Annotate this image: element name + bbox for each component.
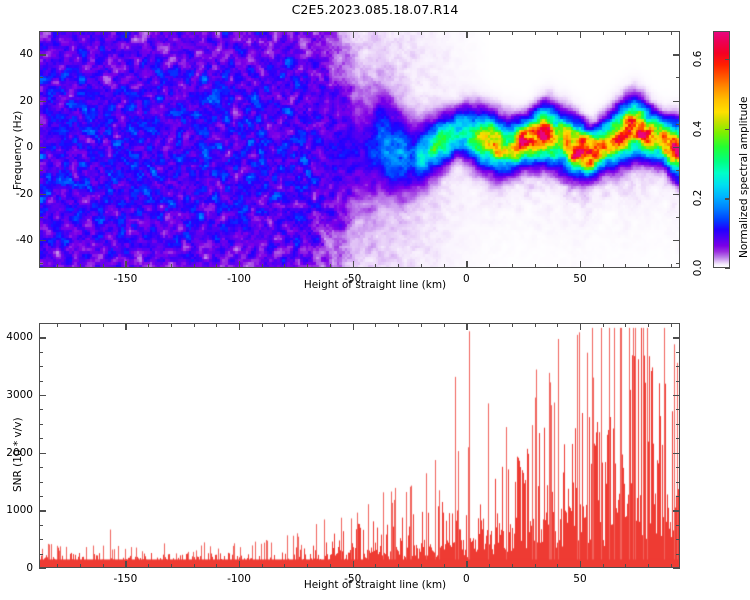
- y-minor-tick: [39, 170, 43, 171]
- y-major-tick: [39, 568, 46, 569]
- y-major-tick: [673, 147, 680, 148]
- x-minor-tick: [171, 31, 172, 35]
- x-minor-tick: [307, 264, 308, 268]
- x-minor-tick: [171, 264, 172, 268]
- x-minor-tick: [307, 323, 308, 327]
- x-major-tick: [125, 323, 126, 330]
- x-minor-tick: [375, 323, 376, 327]
- x-minor-tick: [489, 31, 490, 35]
- x-minor-tick: [284, 323, 285, 327]
- snr-y-axis-label: SNR (10 * v/v): [12, 417, 24, 492]
- x-major-tick: [125, 561, 126, 568]
- colorbar-tick-label: 0.4: [692, 117, 704, 141]
- y-major-tick: [39, 337, 46, 338]
- x-minor-tick: [80, 323, 81, 327]
- x-minor-tick: [671, 31, 672, 35]
- snr-plot-area: [39, 323, 680, 568]
- y-minor-tick: [39, 263, 43, 264]
- y-minor-tick: [676, 31, 680, 32]
- x-major-tick: [580, 261, 581, 268]
- y-minor-tick: [39, 409, 43, 410]
- x-minor-tick: [557, 31, 558, 35]
- colorbar-tick-label: 0.0: [692, 256, 704, 280]
- x-minor-tick: [262, 31, 263, 35]
- x-minor-tick: [171, 323, 172, 327]
- x-major-tick: [466, 31, 467, 38]
- x-minor-tick: [512, 31, 513, 35]
- x-minor-tick: [557, 564, 558, 568]
- x-minor-tick: [80, 564, 81, 568]
- colorbar-tick: [725, 129, 730, 130]
- y-tick-label: -40: [0, 234, 33, 246]
- x-minor-tick: [398, 323, 399, 327]
- x-minor-tick: [330, 264, 331, 268]
- x-major-tick: [353, 323, 354, 330]
- x-major-tick: [353, 561, 354, 568]
- y-minor-tick: [39, 467, 43, 468]
- x-minor-tick: [648, 564, 649, 568]
- y-major-tick: [673, 54, 680, 55]
- x-minor-tick: [444, 564, 445, 568]
- spectrogram-x-axis-label: Height of straight line (km): [0, 279, 750, 291]
- x-minor-tick: [194, 323, 195, 327]
- y-major-tick: [39, 453, 46, 454]
- y-major-tick: [39, 194, 46, 195]
- colorbar-tick: [725, 268, 730, 269]
- x-minor-tick: [57, 31, 58, 35]
- y-minor-tick: [676, 496, 680, 497]
- x-minor-tick: [375, 264, 376, 268]
- x-minor-tick: [284, 564, 285, 568]
- x-minor-tick: [148, 564, 149, 568]
- x-minor-tick: [330, 31, 331, 35]
- colorbar-tick-label: 0.6: [692, 47, 704, 71]
- y-minor-tick: [39, 323, 43, 324]
- y-minor-tick: [676, 352, 680, 353]
- x-minor-tick: [421, 31, 422, 35]
- x-minor-tick: [535, 323, 536, 327]
- y-minor-tick: [39, 381, 43, 382]
- x-minor-tick: [330, 323, 331, 327]
- page-title: C2E5.2023.085.18.07.R14: [0, 2, 750, 17]
- x-minor-tick: [398, 31, 399, 35]
- y-minor-tick: [39, 424, 43, 425]
- x-minor-tick: [375, 564, 376, 568]
- x-minor-tick: [444, 323, 445, 327]
- x-minor-tick: [103, 31, 104, 35]
- y-minor-tick: [676, 124, 680, 125]
- x-minor-tick: [603, 564, 604, 568]
- y-major-tick: [39, 101, 46, 102]
- x-minor-tick: [194, 564, 195, 568]
- x-minor-tick: [557, 264, 558, 268]
- y-tick-label: 4000: [0, 331, 33, 343]
- y-minor-tick: [676, 409, 680, 410]
- x-minor-tick: [216, 264, 217, 268]
- x-major-tick: [125, 261, 126, 268]
- y-minor-tick: [676, 217, 680, 218]
- y-minor-tick: [676, 467, 680, 468]
- x-minor-tick: [57, 323, 58, 327]
- spectrogram-image: [40, 32, 679, 267]
- x-major-tick: [353, 261, 354, 268]
- x-minor-tick: [603, 31, 604, 35]
- x-minor-tick: [80, 264, 81, 268]
- x-minor-tick: [148, 31, 149, 35]
- x-minor-tick: [421, 323, 422, 327]
- y-minor-tick: [39, 77, 43, 78]
- x-minor-tick: [648, 323, 649, 327]
- snr-x-axis-label: Height of straight line (km): [0, 579, 750, 591]
- y-minor-tick: [676, 525, 680, 526]
- x-minor-tick: [648, 264, 649, 268]
- x-minor-tick: [625, 323, 626, 327]
- x-major-tick: [239, 261, 240, 268]
- x-minor-tick: [535, 564, 536, 568]
- x-major-tick: [239, 31, 240, 38]
- y-minor-tick: [39, 496, 43, 497]
- y-major-tick: [673, 101, 680, 102]
- x-minor-tick: [262, 323, 263, 327]
- x-minor-tick: [535, 264, 536, 268]
- figure-canvas: C2E5.2023.085.18.07.R14 -150-100-50050-4…: [0, 0, 750, 600]
- x-major-tick: [353, 31, 354, 38]
- x-major-tick: [580, 561, 581, 568]
- y-tick-label: 3000: [0, 389, 33, 401]
- y-minor-tick: [676, 323, 680, 324]
- x-minor-tick: [421, 564, 422, 568]
- x-major-tick: [466, 261, 467, 268]
- x-minor-tick: [57, 264, 58, 268]
- y-minor-tick: [39, 352, 43, 353]
- y-major-tick: [673, 510, 680, 511]
- x-minor-tick: [671, 323, 672, 327]
- y-major-tick: [673, 453, 680, 454]
- x-minor-tick: [421, 264, 422, 268]
- x-minor-tick: [625, 264, 626, 268]
- y-minor-tick: [676, 438, 680, 439]
- x-major-tick: [125, 31, 126, 38]
- x-minor-tick: [148, 264, 149, 268]
- x-minor-tick: [603, 264, 604, 268]
- x-major-tick: [580, 323, 581, 330]
- x-minor-tick: [57, 564, 58, 568]
- y-minor-tick: [39, 539, 43, 540]
- y-minor-tick: [39, 482, 43, 483]
- x-minor-tick: [671, 264, 672, 268]
- y-minor-tick: [39, 124, 43, 125]
- x-minor-tick: [284, 31, 285, 35]
- colorbar-tick: [725, 59, 730, 60]
- x-minor-tick: [535, 31, 536, 35]
- y-tick-label: 1000: [0, 504, 33, 516]
- x-minor-tick: [398, 264, 399, 268]
- x-minor-tick: [307, 31, 308, 35]
- x-minor-tick: [648, 31, 649, 35]
- y-major-tick: [39, 510, 46, 511]
- x-minor-tick: [444, 31, 445, 35]
- x-minor-tick: [216, 564, 217, 568]
- y-minor-tick: [676, 482, 680, 483]
- y-minor-tick: [676, 263, 680, 264]
- x-minor-tick: [103, 264, 104, 268]
- y-minor-tick: [676, 554, 680, 555]
- x-minor-tick: [512, 323, 513, 327]
- x-minor-tick: [625, 31, 626, 35]
- x-minor-tick: [284, 264, 285, 268]
- colorbar-tick: [725, 198, 730, 199]
- x-major-tick: [466, 561, 467, 568]
- y-minor-tick: [39, 366, 43, 367]
- x-major-tick: [580, 31, 581, 38]
- y-minor-tick: [39, 217, 43, 218]
- x-minor-tick: [375, 31, 376, 35]
- spectrogram-plot-area: [39, 31, 680, 268]
- y-minor-tick: [39, 438, 43, 439]
- x-minor-tick: [625, 564, 626, 568]
- y-minor-tick: [676, 170, 680, 171]
- x-minor-tick: [512, 564, 513, 568]
- x-minor-tick: [398, 564, 399, 568]
- colorbar-label: Normalized spectral amplitude: [738, 97, 750, 258]
- x-minor-tick: [330, 564, 331, 568]
- x-minor-tick: [671, 564, 672, 568]
- y-major-tick: [673, 194, 680, 195]
- x-minor-tick: [489, 323, 490, 327]
- y-minor-tick: [39, 31, 43, 32]
- x-minor-tick: [216, 31, 217, 35]
- y-major-tick: [673, 337, 680, 338]
- x-minor-tick: [216, 323, 217, 327]
- y-minor-tick: [676, 77, 680, 78]
- x-minor-tick: [171, 564, 172, 568]
- y-major-tick: [673, 395, 680, 396]
- x-minor-tick: [103, 323, 104, 327]
- x-major-tick: [239, 561, 240, 568]
- x-minor-tick: [194, 264, 195, 268]
- y-major-tick: [673, 240, 680, 241]
- x-major-tick: [466, 323, 467, 330]
- x-minor-tick: [103, 564, 104, 568]
- y-tick-label: 40: [0, 48, 33, 60]
- x-minor-tick: [444, 264, 445, 268]
- snr-trace-image: [40, 324, 679, 567]
- x-minor-tick: [80, 31, 81, 35]
- colorbar-tick-label: 0.2: [692, 186, 704, 210]
- y-minor-tick: [39, 525, 43, 526]
- x-minor-tick: [489, 564, 490, 568]
- y-major-tick: [39, 54, 46, 55]
- x-minor-tick: [603, 323, 604, 327]
- y-minor-tick: [676, 424, 680, 425]
- y-major-tick: [39, 395, 46, 396]
- x-minor-tick: [557, 323, 558, 327]
- x-minor-tick: [489, 264, 490, 268]
- x-minor-tick: [307, 564, 308, 568]
- y-minor-tick: [676, 539, 680, 540]
- y-tick-label: 0: [0, 562, 33, 574]
- x-minor-tick: [194, 31, 195, 35]
- y-major-tick: [673, 568, 680, 569]
- y-major-tick: [39, 147, 46, 148]
- spectrogram-y-axis-label: Frequency (Hz): [12, 111, 24, 190]
- x-minor-tick: [262, 564, 263, 568]
- x-minor-tick: [512, 264, 513, 268]
- y-tick-label: 20: [0, 95, 33, 107]
- y-minor-tick: [676, 366, 680, 367]
- colorbar-gradient: [713, 31, 730, 268]
- y-major-tick: [39, 240, 46, 241]
- x-major-tick: [239, 323, 240, 330]
- x-minor-tick: [148, 323, 149, 327]
- y-minor-tick: [676, 381, 680, 382]
- y-minor-tick: [39, 554, 43, 555]
- x-minor-tick: [262, 264, 263, 268]
